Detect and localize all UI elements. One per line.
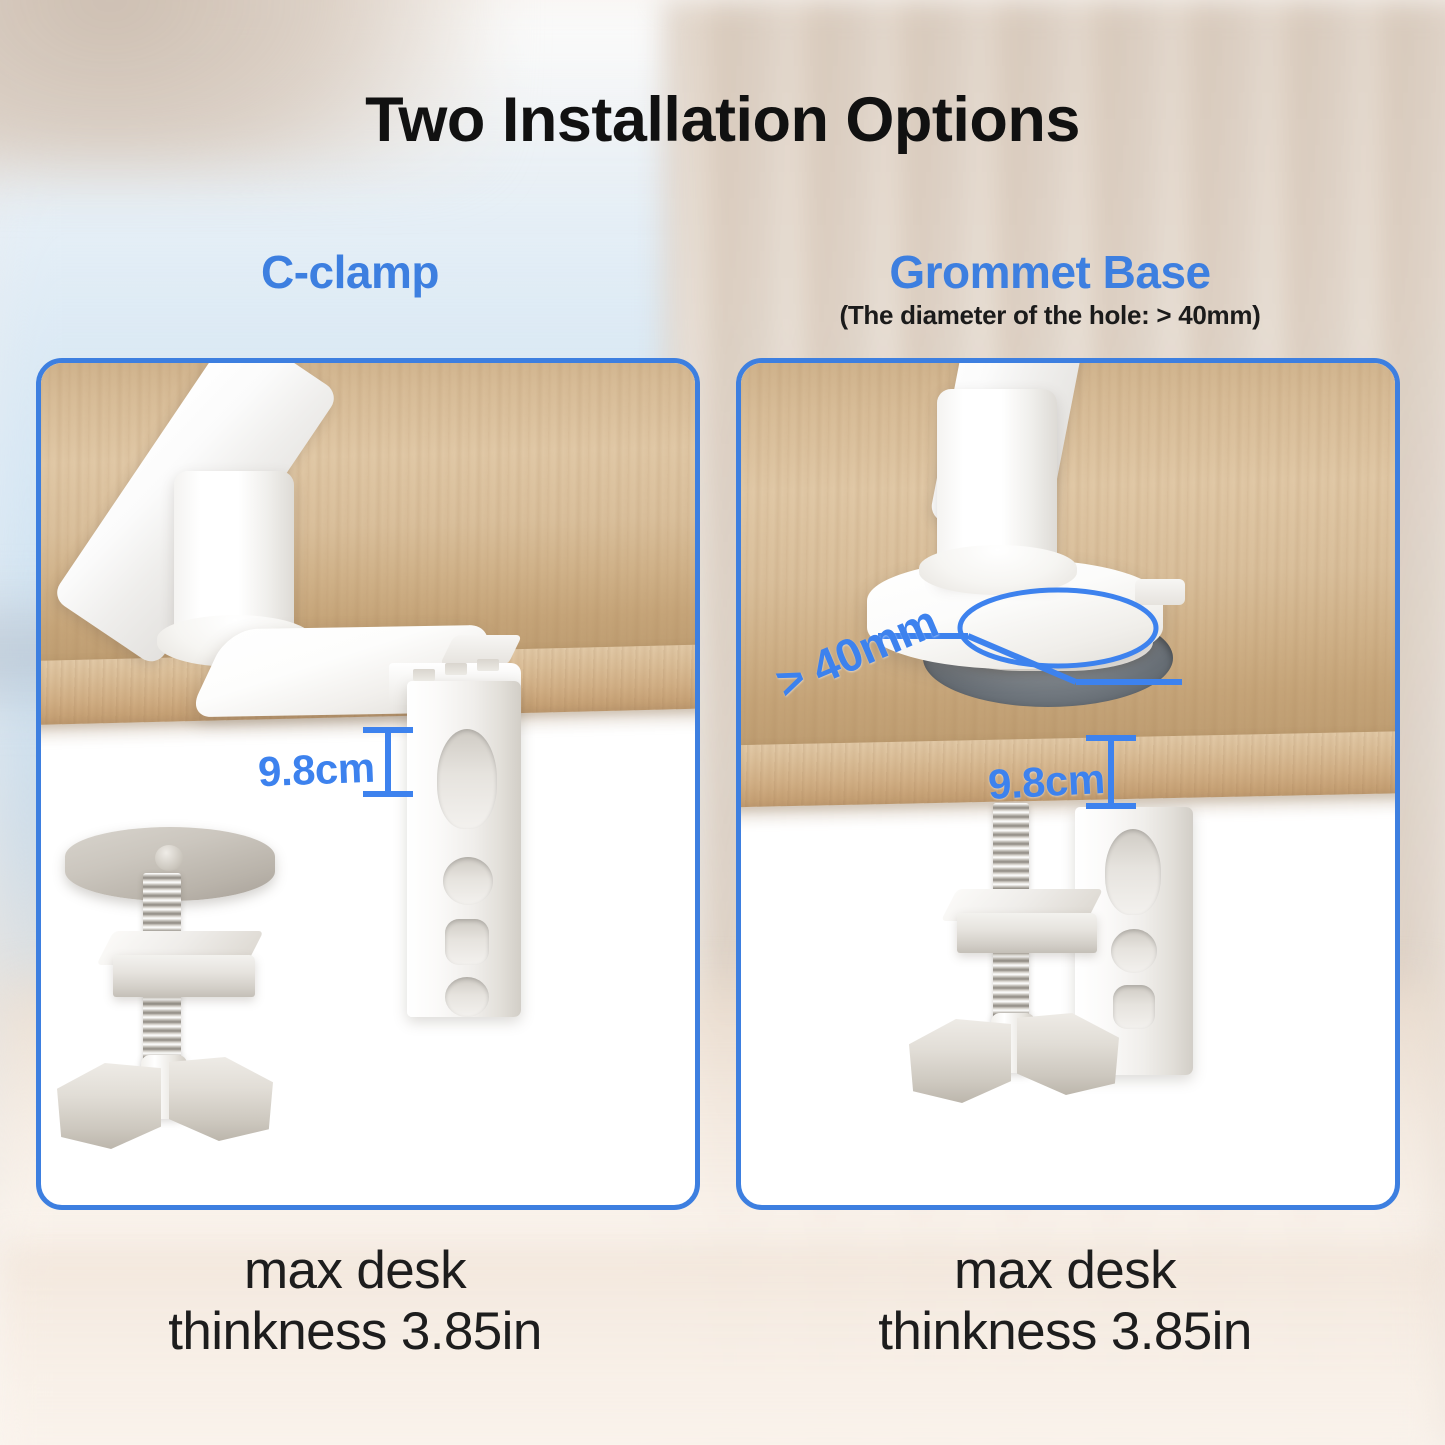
monitor-arm-post-flare (919, 545, 1077, 595)
caption-line-2: thinkness 3.85in (740, 1301, 1390, 1362)
caption-line-2: thinkness 3.85in (30, 1301, 680, 1362)
heading-subtext-grommet-hole-size: (The diameter of the hole: > 40mm) (740, 300, 1360, 331)
clamp-bracket-notch-1 (413, 669, 435, 681)
dimension-label-thickness-right: 9.8cm (987, 755, 1106, 809)
clamp-bracket-round-slot (443, 857, 493, 905)
caption-grommet-base: max desk thinkness 3.85in (740, 1240, 1390, 1363)
dimension-label-thickness-left: 9.8cm (257, 744, 375, 796)
clamp-knob-wing-left (57, 1063, 161, 1149)
clamp-bracket-notch-3 (477, 659, 499, 671)
clamp-bracket-pill-slot (1113, 985, 1155, 1029)
clamp-bracket-pill-slot (445, 919, 489, 965)
clamp-bracket-keyhole-slot (437, 729, 497, 829)
column-heading-grommet-base: Grommet Base (The diameter of the hole: … (740, 248, 1360, 331)
column-heading-c-clamp: C-clamp (40, 248, 660, 296)
caption-c-clamp: max desk thinkness 3.85in (30, 1240, 680, 1363)
clamp-jaw (957, 913, 1097, 953)
clamp-pad-boss (155, 845, 183, 871)
clamp-bracket-round-slot-2 (445, 977, 489, 1017)
heading-text-grommet-base: Grommet Base (740, 248, 1360, 296)
clamp-bracket-notch-2 (445, 663, 467, 675)
clamp-knob-wing-right (169, 1057, 273, 1141)
page-title: Two Installation Options (0, 84, 1445, 156)
heading-text-c-clamp: C-clamp (40, 248, 660, 296)
clamp-bracket-keyhole-slot (1105, 829, 1161, 915)
clamp-jaw (113, 955, 255, 997)
caption-line-1: max desk (740, 1240, 1390, 1301)
clamp-bracket-round-slot (1111, 929, 1157, 973)
caption-line-1: max desk (30, 1240, 680, 1301)
clamp-knob-wing-left (909, 1019, 1011, 1103)
